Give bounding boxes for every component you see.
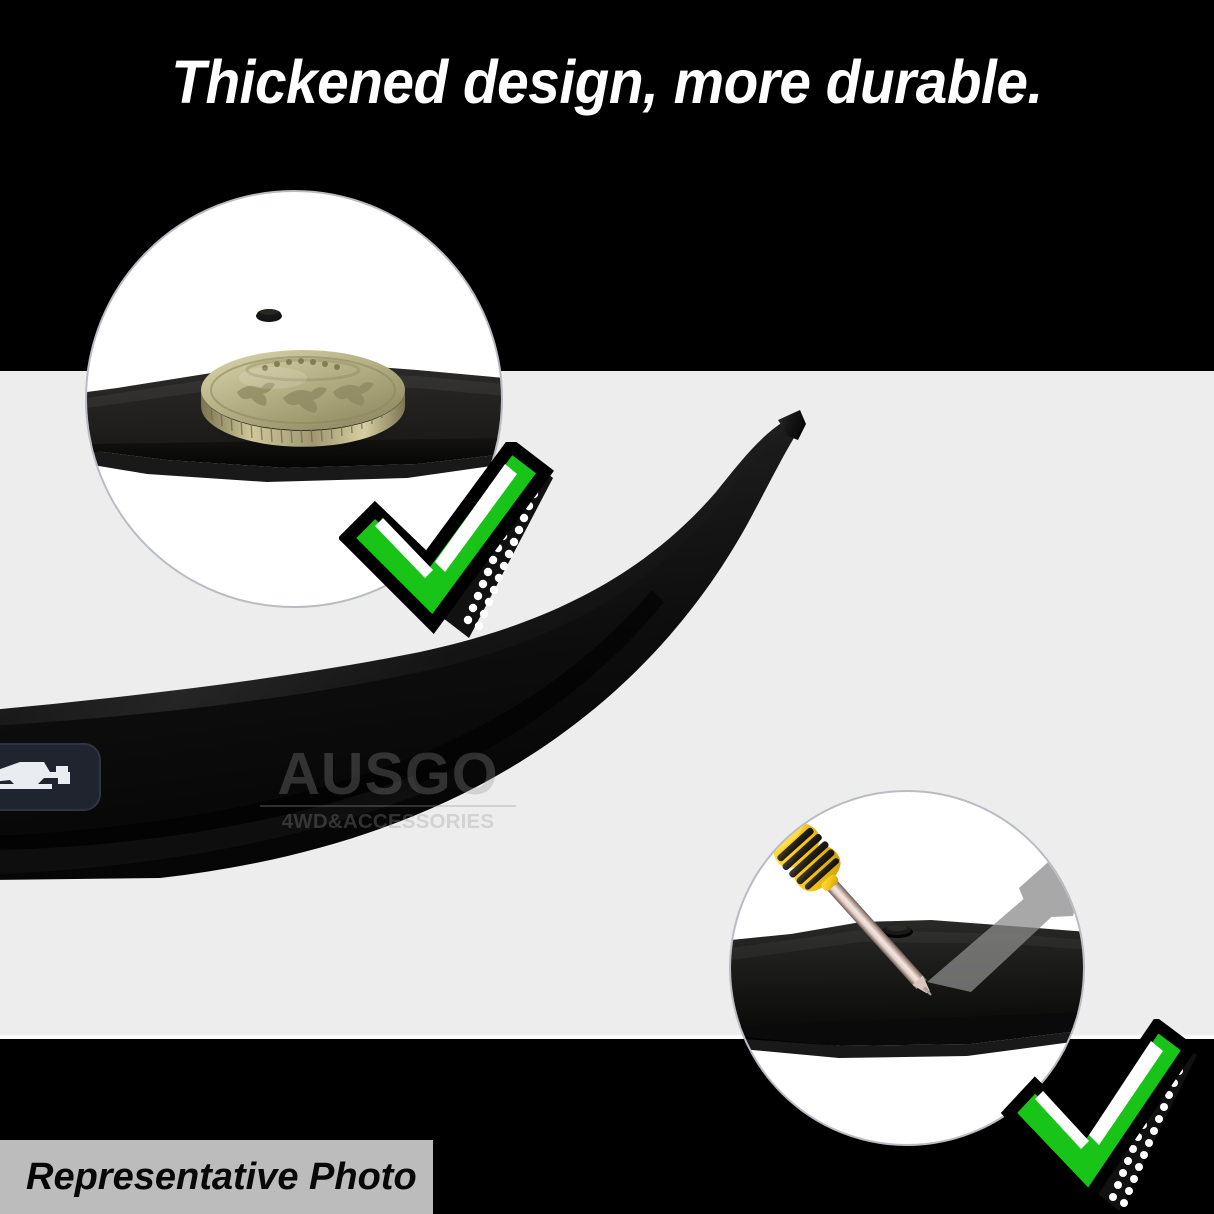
headline-text: Thickened design, more durable. bbox=[42, 52, 1171, 113]
product-marketing-image: Thickened design, more durable. bbox=[0, 0, 1214, 1214]
representative-photo-caption: Representative Photo bbox=[26, 1155, 417, 1201]
check-mark-coin bbox=[339, 442, 593, 642]
check-mark-screwdriver bbox=[1001, 1019, 1214, 1214]
coin-specular bbox=[239, 367, 307, 389]
callout-mounting-hole bbox=[256, 309, 282, 322]
